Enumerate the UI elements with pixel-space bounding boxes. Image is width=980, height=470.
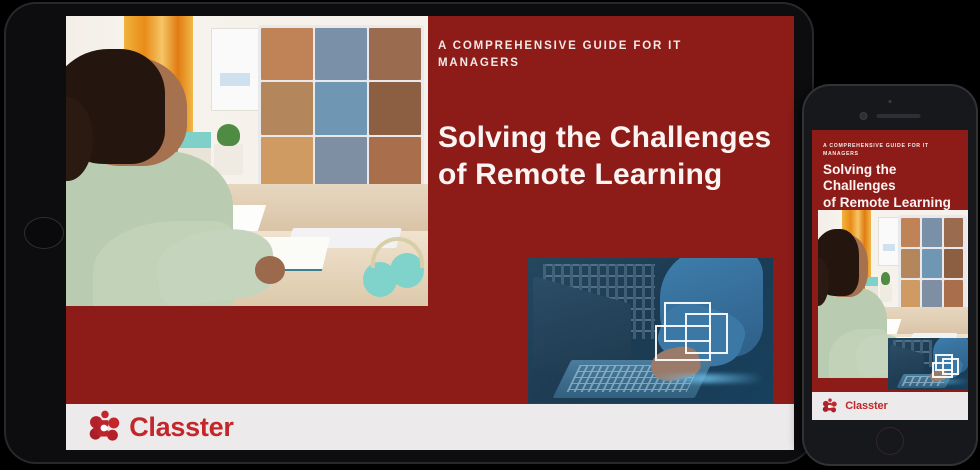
slide-title-phone-line-2: of Remote Learning — [823, 195, 968, 211]
slide-footer-bar-phone: Classter — [812, 392, 968, 420]
headphones — [363, 234, 425, 298]
device-mockup-scene: A COMPREHENSIVE GUIDE FOR IT MANAGERS So… — [0, 0, 980, 470]
secondary-image-phone — [888, 338, 968, 390]
slide-kicker: A COMPREHENSIVE GUIDE FOR IT MANAGERS — [438, 38, 728, 73]
phone-screen[interactable]: A COMPREHENSIVE GUIDE FOR IT MANAGERS So… — [812, 130, 968, 420]
classter-logo-icon-phone — [822, 398, 838, 414]
slide-canvas-tablet: A COMPREHENSIVE GUIDE FOR IT MANAGERS So… — [66, 16, 794, 450]
slide-title-line-1: Solving the Challenges — [438, 120, 786, 157]
slide-canvas-phone: A COMPREHENSIVE GUIDE FOR IT MANAGERS So… — [812, 130, 968, 420]
classter-logo: Classter — [88, 410, 234, 444]
phone-device: A COMPREHENSIVE GUIDE FOR IT MANAGERS So… — [804, 86, 976, 464]
classter-logo-icon — [88, 410, 122, 444]
proximity-sensor-icon — [889, 100, 892, 103]
slide-title-line-2: of Remote Learning — [438, 157, 786, 194]
hero-image — [66, 16, 428, 306]
slide-kicker-phone: A COMPREHENSIVE GUIDE FOR IT MANAGERS — [823, 143, 959, 159]
document-wireframe-graphic — [655, 302, 738, 372]
slide-title: Solving the Challenges of Remote Learnin… — [438, 120, 786, 193]
slide-title-phone-line-1: Solving the Challenges — [823, 162, 968, 195]
tablet-home-button[interactable] — [24, 217, 64, 249]
classter-wordmark-phone: Classter — [845, 400, 888, 412]
phone-home-button[interactable] — [876, 427, 904, 455]
tablet-device: A COMPREHENSIVE GUIDE FOR IT MANAGERS So… — [6, 4, 812, 462]
classter-logo-phone: Classter — [822, 398, 888, 414]
front-camera-icon — [860, 112, 868, 120]
classter-wordmark: Classter — [129, 412, 233, 443]
monitor-video-call — [258, 25, 425, 193]
slide-title-phone: Solving the Challenges of Remote Learnin… — [823, 162, 968, 211]
slide-footer-bar: Classter — [66, 404, 794, 450]
phone-camera-speaker — [860, 112, 921, 120]
earpiece-speaker-icon — [877, 114, 921, 118]
tablet-screen[interactable]: A COMPREHENSIVE GUIDE FOR IT MANAGERS So… — [66, 16, 794, 450]
secondary-image — [528, 258, 773, 403]
